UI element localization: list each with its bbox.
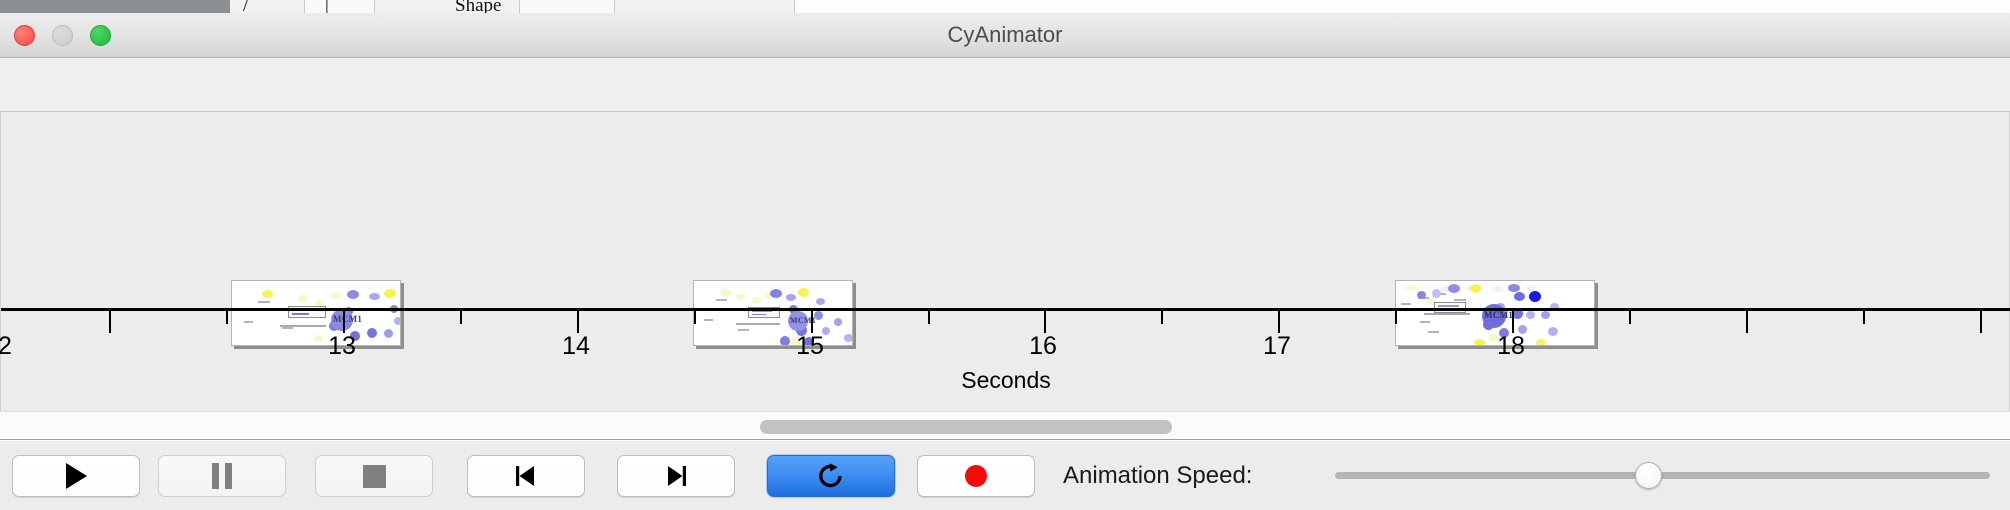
ruler-tick-major bbox=[1512, 311, 1514, 333]
background-glyph: / bbox=[243, 0, 248, 13]
play-button[interactable] bbox=[12, 455, 140, 497]
title-bar[interactable]: CyAnimator bbox=[0, 13, 2010, 58]
background-arc bbox=[1830, 0, 1910, 12]
background-cell bbox=[230, 0, 305, 13]
ruler-label: 16 bbox=[1013, 332, 1073, 361]
background-arc bbox=[1680, 0, 1760, 12]
background-arc bbox=[1530, 0, 1610, 12]
animation-speed-label: Animation Speed: bbox=[1063, 455, 1252, 497]
background-window-label: Shape bbox=[455, 0, 501, 13]
ruler-tick-major bbox=[1746, 311, 1748, 333]
ruler-tick-minor bbox=[460, 311, 462, 324]
timeline-ruler[interactable] bbox=[1, 308, 2010, 311]
scrollbar-thumb[interactable] bbox=[760, 420, 1172, 434]
record-icon bbox=[963, 463, 989, 489]
ruler-label: 15 bbox=[780, 332, 840, 361]
skip-to-start-button[interactable] bbox=[467, 455, 585, 497]
background-cell bbox=[305, 0, 375, 13]
loop-button[interactable] bbox=[767, 455, 895, 497]
ruler-tick-minor bbox=[1395, 311, 1397, 324]
ruler-label: 17 bbox=[1247, 332, 1307, 361]
skip-back-icon bbox=[513, 463, 539, 489]
ruler-tick-minor bbox=[1863, 311, 1865, 324]
ruler-tick-minor bbox=[1629, 311, 1631, 324]
background-arc bbox=[1930, 0, 2010, 12]
ruler-label: 13 bbox=[312, 332, 372, 361]
stop-button[interactable] bbox=[315, 455, 433, 497]
background-window-strip: / | Shape bbox=[0, 0, 2010, 13]
pause-button[interactable] bbox=[158, 455, 286, 497]
ruler-tick-minor bbox=[1161, 311, 1163, 324]
ruler-tick-major bbox=[1980, 311, 1982, 333]
ruler-tick-major bbox=[1044, 311, 1046, 333]
ruler-tick-major bbox=[811, 311, 813, 333]
stop-icon bbox=[363, 465, 386, 488]
hub-node-label: MCM1 bbox=[1484, 310, 1513, 320]
timeline-horizontal-scrollbar[interactable] bbox=[0, 411, 2010, 440]
background-cell bbox=[615, 0, 795, 13]
background-glyph: | bbox=[325, 0, 329, 13]
playback-control-bar: Animation Speed: bbox=[0, 441, 2010, 510]
timeline-axis-title: Seconds bbox=[1, 367, 2010, 394]
skip-forward-icon bbox=[663, 463, 689, 489]
record-button[interactable] bbox=[917, 455, 1035, 497]
window-title: CyAnimator bbox=[0, 13, 2010, 57]
ruler-tick-minor bbox=[226, 311, 228, 324]
ruler-tick-major bbox=[1278, 311, 1280, 333]
ruler-tick-minor bbox=[694, 311, 696, 324]
loop-icon bbox=[816, 461, 846, 491]
background-arc bbox=[1390, 0, 1470, 12]
animation-speed-slider[interactable] bbox=[1335, 472, 1990, 479]
pause-icon bbox=[212, 463, 232, 489]
timeline-panel[interactable]: MCM1 bbox=[0, 112, 2010, 411]
hub-node-label: MCM1 bbox=[333, 314, 362, 324]
ruler-label: 14 bbox=[546, 332, 606, 361]
ruler-tick-minor bbox=[928, 311, 930, 324]
ruler-label: 2 bbox=[0, 332, 35, 361]
animation-speed-slider-thumb[interactable] bbox=[1635, 462, 1662, 489]
ruler-tick-major bbox=[343, 311, 345, 333]
play-icon bbox=[66, 463, 87, 489]
ruler-label: 18 bbox=[1481, 332, 1541, 361]
skip-to-end-button[interactable] bbox=[617, 455, 735, 497]
background-active-tab bbox=[0, 0, 230, 13]
ruler-tick-major bbox=[577, 311, 579, 333]
ruler-tick-major bbox=[109, 311, 111, 333]
background-cell bbox=[520, 0, 615, 13]
toolbar: ✚ Clear All Frames bbox=[0, 58, 2010, 112]
cyanimator-window: / | Shape CyAnimator ✚ Clear All Frames bbox=[0, 0, 2010, 510]
